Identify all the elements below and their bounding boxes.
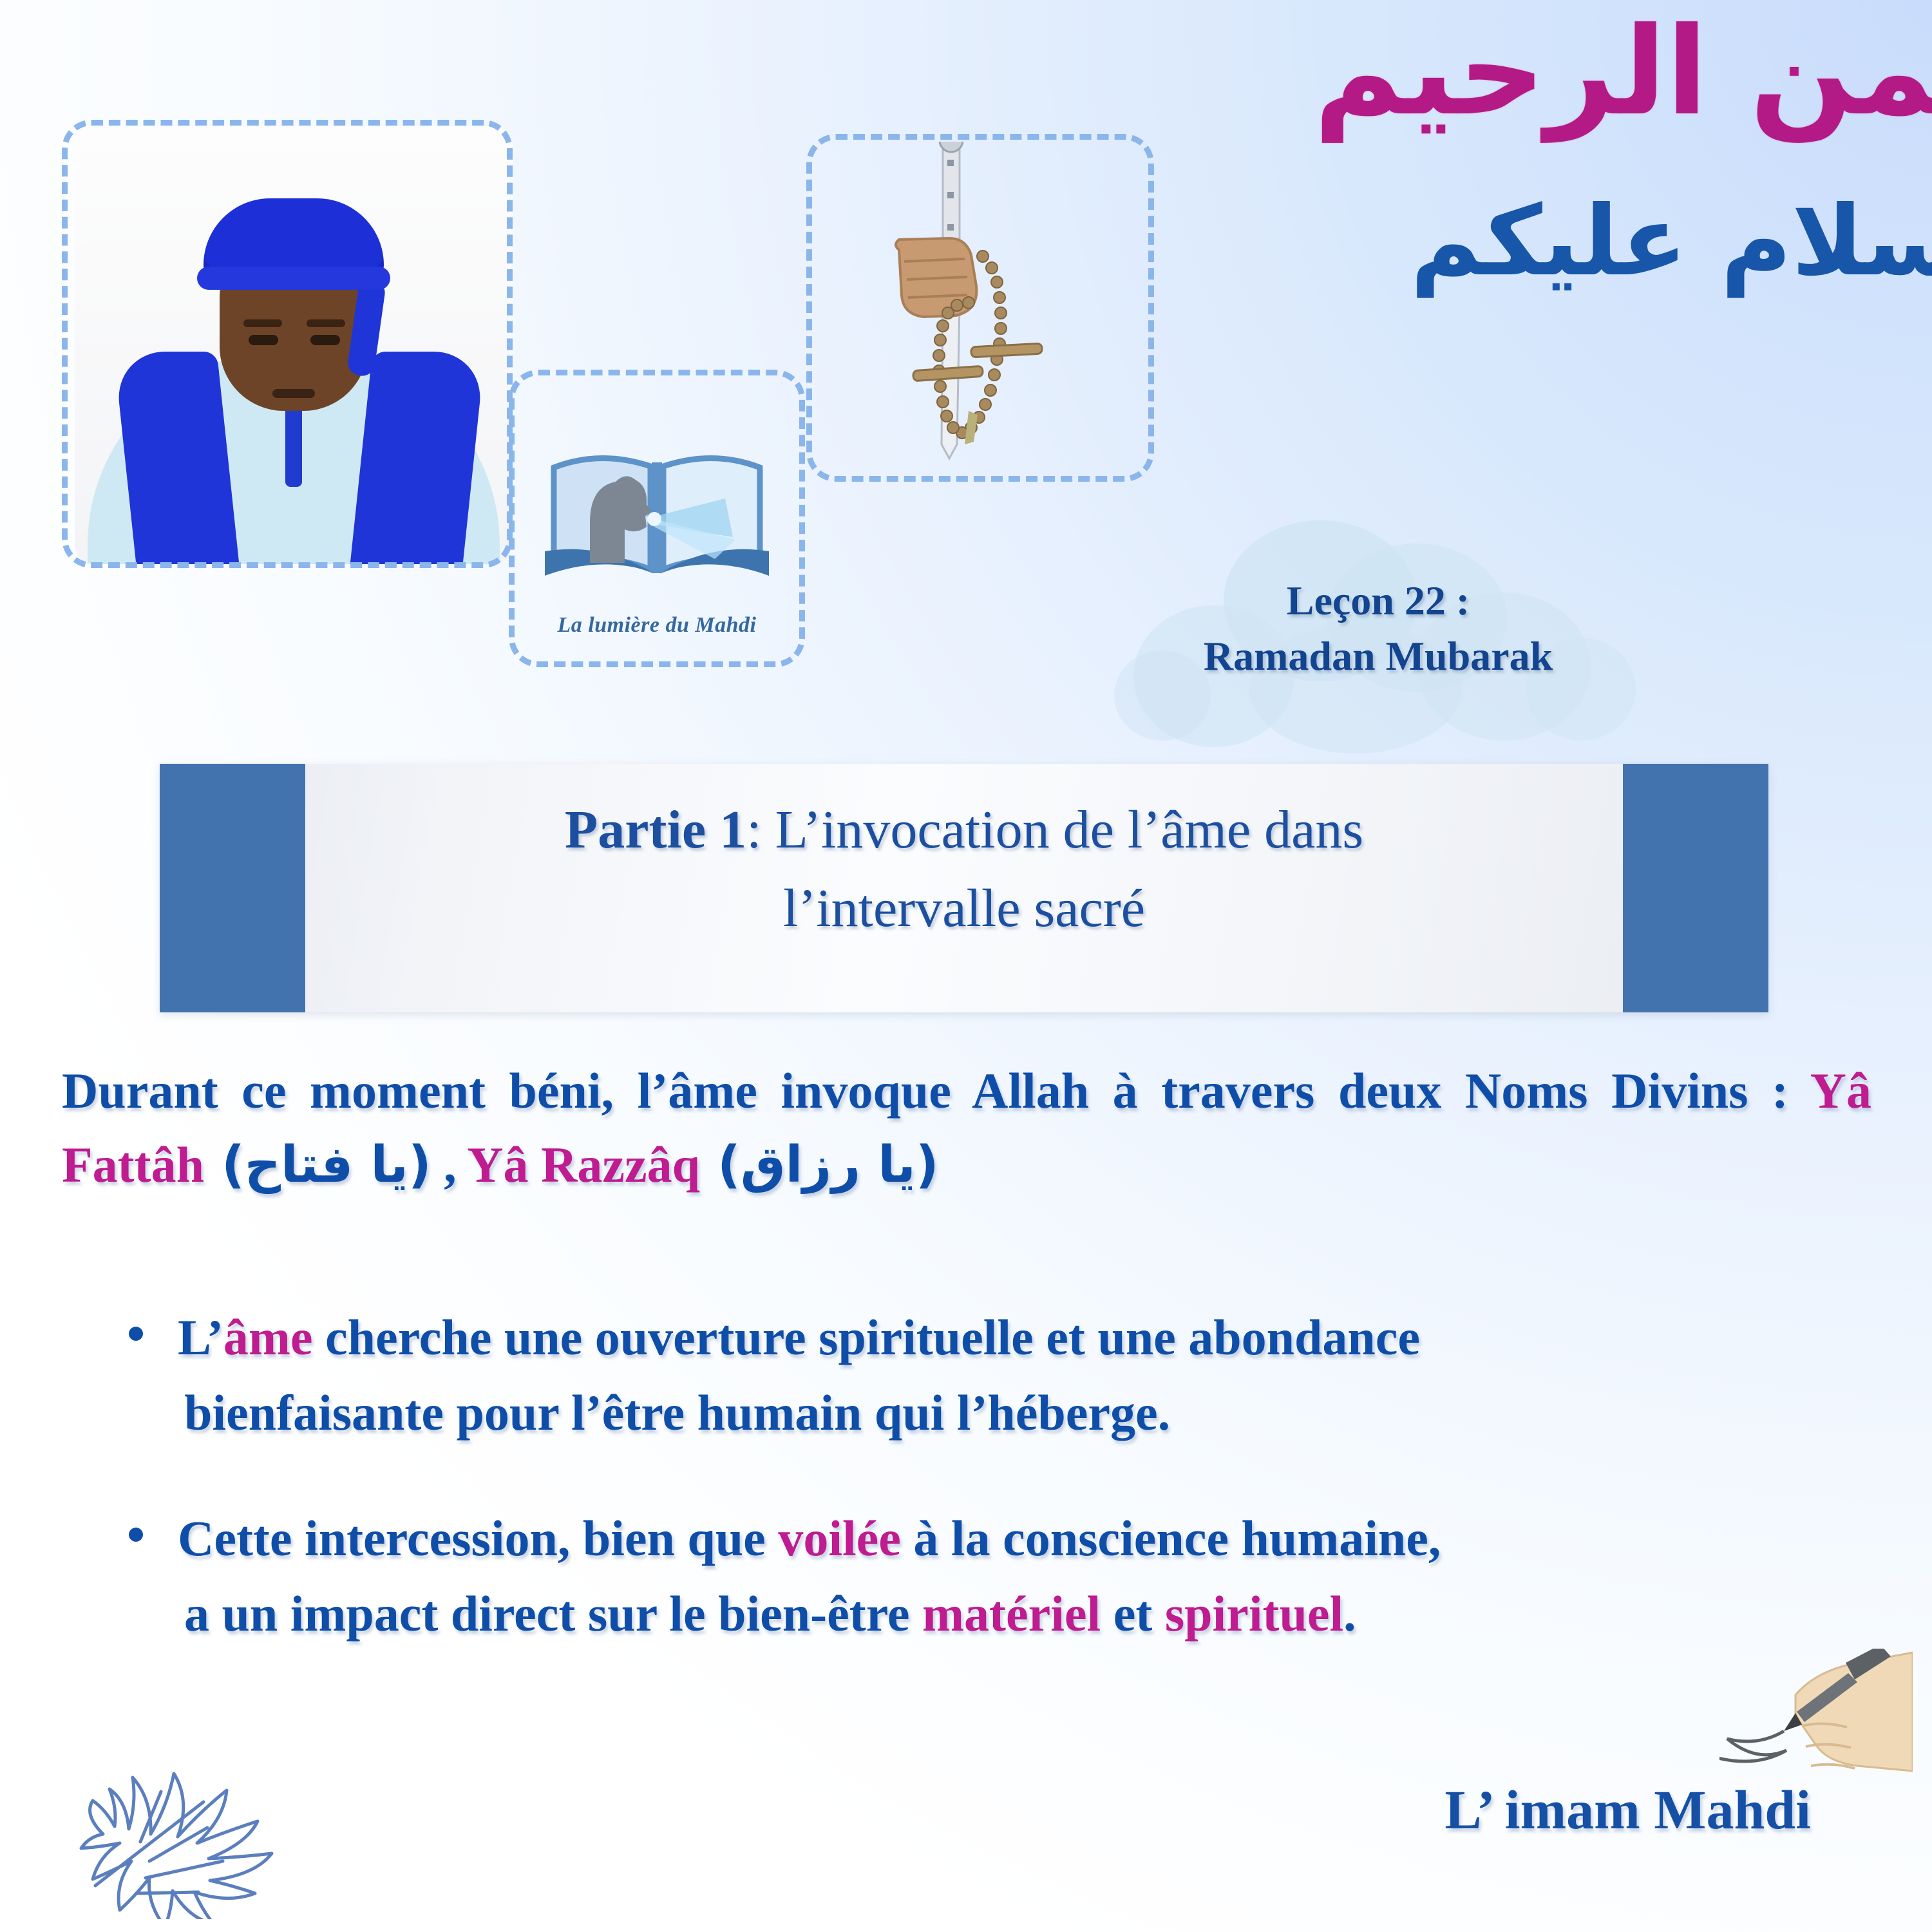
divine-name-razzaq: Yâ Razzâq bbox=[467, 1137, 700, 1193]
bullet-2-highlight-voilee: voilée bbox=[778, 1510, 901, 1566]
bullet-2-seg-2: à la conscience humaine, bbox=[901, 1510, 1441, 1566]
list-item: Cette intercession, bien que voilée à la… bbox=[109, 1501, 1874, 1651]
bullet-1-seg-1: L’ bbox=[178, 1309, 223, 1365]
banner-bar-left bbox=[160, 764, 305, 1012]
intro-separator: , bbox=[431, 1137, 468, 1193]
banner-title-line-2: l’intervalle sacré bbox=[327, 869, 1601, 948]
salam-calligraphy: السلام عليكم bbox=[1410, 193, 1913, 290]
banner-bar-right bbox=[1623, 764, 1768, 1012]
intro-text-part-1: Durant ce moment béni, l’âme invoque All… bbox=[62, 1063, 1810, 1119]
bullet-dot-icon bbox=[129, 1327, 143, 1341]
bullet-2-highlight-spirituel: spirituel bbox=[1165, 1586, 1343, 1642]
bullet-2-line-2-c: . bbox=[1343, 1586, 1356, 1642]
bullet-2-highlight-materiel: matériel bbox=[922, 1586, 1101, 1642]
portrait-dashed-frame bbox=[62, 120, 513, 568]
banner-colon: : bbox=[746, 800, 761, 860]
bullet-1-seg-2: cherche une ouverture spirituelle et une… bbox=[312, 1309, 1420, 1365]
bullet-2-line-2: a un impact direct sur le bien-être maté… bbox=[178, 1576, 1874, 1651]
banner-title-line-1: L’invocation de l’âme dans bbox=[761, 800, 1363, 860]
bullet-1-highlight-ame: âme bbox=[223, 1309, 313, 1365]
lesson-title: Leçon 22 : Ramadan Mubarak bbox=[1114, 573, 1642, 685]
bullet-dot-icon bbox=[129, 1528, 143, 1542]
list-item: L’âme cherche une ouverture spirituelle … bbox=[109, 1300, 1874, 1450]
banner-title-text: Partie 1: L’invocation de l’âme dans l’i… bbox=[327, 791, 1601, 948]
divine-name-razzaq-arabic: (يا رزاق) bbox=[700, 1136, 938, 1194]
hand-writing-pen-icon bbox=[1719, 1649, 1913, 1835]
divine-name-fattah-arabic: (يا فتاح) bbox=[204, 1136, 431, 1194]
bullet-1-line-2: bienfaisante pour l’être humain qui l’hé… bbox=[178, 1375, 1874, 1450]
section-title-banner: Partie 1: L’invocation de l’âme dans l’i… bbox=[160, 764, 1768, 1012]
sword-dashed-frame bbox=[806, 134, 1154, 482]
bullet-2-seg-1: Cette intercession, bien que bbox=[178, 1510, 778, 1566]
logo-dashed-frame bbox=[509, 370, 805, 667]
bismillah-calligraphy: بسم الله الرحمن الرحيم bbox=[1314, 12, 1906, 133]
bullet-2-line-2-b: et bbox=[1101, 1586, 1165, 1642]
banner-part-label: Partie 1 bbox=[565, 800, 746, 860]
bullet-2-line-2-a: a un impact direct sur le bien-être bbox=[184, 1586, 922, 1642]
poster-canvas: La lumière du Mahdi bbox=[0, 0, 1932, 1932]
monstera-leaf-icon bbox=[64, 1765, 296, 1919]
lesson-line-2: Ramadan Mubarak bbox=[1114, 629, 1642, 684]
lesson-line-1: Leçon 22 : bbox=[1114, 573, 1642, 629]
intro-paragraph: Durant ce moment béni, l’âme invoque All… bbox=[62, 1054, 1871, 1203]
bullet-list: L’âme cherche une ouverture spirituelle … bbox=[109, 1300, 1874, 1701]
